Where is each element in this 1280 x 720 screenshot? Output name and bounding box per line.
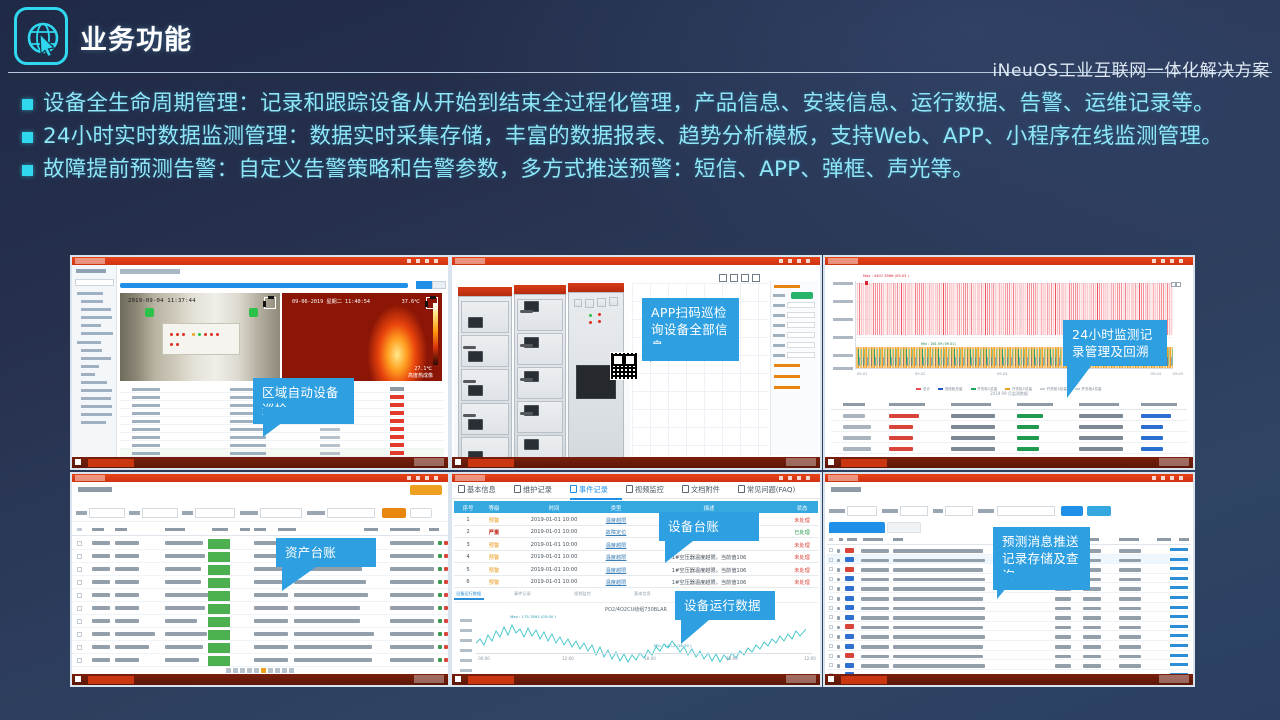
priority-badge [845, 576, 854, 581]
tree-node[interactable] [81, 365, 99, 368]
table-row[interactable]: 6预警2019-01-01 10:00温度越限1#空压器温度越限，当前值106未… [454, 576, 818, 589]
product-tagline: iNeuOS工业互联网一体化解决方案 [992, 56, 1270, 81]
callout-tail [681, 620, 709, 644]
y-tick [833, 336, 853, 339]
window-controls[interactable] [1147, 476, 1189, 480]
tab-active-underline [570, 498, 622, 500]
x-tick: 12:00 [562, 656, 574, 661]
window-body [72, 482, 448, 674]
subtab-event-log[interactable]: 事件记录 [514, 591, 531, 597]
window-controls[interactable] [774, 476, 816, 480]
y-tick [460, 669, 472, 672]
table-row[interactable] [72, 576, 448, 589]
list-item: 故障提前预测告警：自定义告警策略和告警参数，多方式推送预警：短信、APP、弹框、… [22, 154, 1272, 185]
table-row[interactable] [72, 628, 448, 641]
taskbar [72, 457, 448, 468]
tree-node[interactable] [81, 300, 103, 303]
table-row[interactable] [831, 421, 1187, 432]
filter-label [933, 509, 943, 513]
series-max-marker [865, 281, 868, 285]
maximize-icon[interactable] [1170, 259, 1174, 263]
page-7[interactable] [268, 668, 273, 673]
window-title [455, 475, 485, 481]
settings-icon[interactable] [1152, 476, 1156, 480]
control-panel-front [162, 323, 240, 355]
thermal-color-scale [433, 303, 438, 365]
search-button[interactable] [1061, 506, 1083, 516]
page-next[interactable] [289, 668, 294, 673]
doc-icon [738, 485, 745, 493]
tree-node[interactable] [81, 389, 112, 392]
close-icon[interactable] [1179, 476, 1183, 480]
tab-video-monitor[interactable]: 视频监控 [626, 485, 664, 495]
tab-basic-info[interactable]: 基本信息 [458, 485, 496, 495]
logo-box [14, 7, 68, 65]
page-title [78, 487, 112, 492]
callout-region-auto-inspection: 区域自动设备巡检 [253, 378, 354, 424]
window-body: 2019-09-04 11:37:44 09-06-2019 星期二 11:40… [72, 265, 448, 457]
callout-text: 设备运行数据 [684, 598, 761, 613]
y-tick [833, 354, 853, 357]
row-checkbox[interactable] [77, 606, 82, 611]
status-badge [208, 643, 230, 654]
taskbar-clock [786, 458, 816, 466]
minimize-icon[interactable] [1161, 476, 1165, 480]
table-row[interactable] [72, 589, 448, 602]
stop-inspection-button[interactable] [432, 281, 446, 289]
x-axis [855, 368, 1173, 369]
save-button[interactable] [791, 292, 813, 299]
org-filter-select[interactable] [260, 508, 302, 518]
close-icon[interactable] [806, 476, 810, 480]
priority-badge [845, 615, 854, 620]
row-checkbox[interactable] [77, 567, 82, 572]
doc-icon [570, 485, 577, 493]
table-toggle-icon[interactable] [1176, 282, 1181, 287]
settings-icon[interactable] [407, 259, 411, 263]
screenshot-panel-inspection[interactable]: 2019-09-04 11:37:44 09-06-2019 星期二 11:40… [70, 255, 450, 470]
sidebar-title [76, 269, 106, 273]
x-axis [476, 653, 812, 654]
close-icon[interactable] [806, 259, 810, 263]
priority-badge [845, 634, 854, 639]
row-checkbox[interactable] [77, 619, 82, 624]
minimize-icon[interactable] [416, 476, 420, 480]
table-row[interactable] [72, 615, 448, 628]
callout-predict-push-log: 预测消息推送记录存储及查询 [993, 527, 1090, 590]
callout-24h-record: 24小时监测记录管理及回溯 [1063, 320, 1167, 366]
priority-badge [845, 653, 854, 658]
close-icon[interactable] [1179, 259, 1183, 263]
tab-unprocessed[interactable] [829, 522, 885, 533]
settings-icon[interactable] [407, 476, 411, 480]
add-node-icon[interactable] [719, 274, 727, 282]
callout-tail [650, 344, 682, 362]
list-item: 24小时实时数据监测管理：数据实时采集存储，丰富的数据报表、趋势分析模板，支持W… [22, 121, 1272, 152]
window-body: 基本信息 维护记录 事件记录 视频监控 文档附件 常见问题(FAQ) 序号 等级… [452, 482, 820, 674]
priority-badge [845, 586, 854, 591]
taskbar [452, 674, 820, 685]
table-row[interactable]: 3预警2019-01-01 10:00温度越限未处理 [454, 538, 818, 551]
row-checkbox[interactable] [77, 645, 82, 650]
x-tick: 18:00 [726, 656, 738, 661]
callout-asset-ledger: 资产台账 [276, 538, 376, 567]
filter-label [978, 509, 994, 513]
start-icon[interactable] [455, 676, 461, 682]
tab-maintenance-log[interactable]: 维护记录 [514, 485, 552, 495]
tab-faq[interactable]: 常见问题(FAQ) [738, 485, 795, 495]
start-icon[interactable] [455, 459, 461, 465]
row-checkbox[interactable] [77, 580, 82, 585]
property-select[interactable] [787, 352, 815, 358]
table-row[interactable]: 4预警2019-01-01 10:00温度越限1#空压器温度越限，当前值106未… [454, 551, 818, 564]
property-label [773, 354, 785, 357]
screenshot-gallery: 2019-09-04 11:37:44 09-06-2019 星期二 11:40… [0, 252, 1280, 697]
maximize-icon[interactable] [425, 476, 429, 480]
table-row[interactable] [827, 651, 1191, 661]
callout-app-qr-scan: APP扫码巡检询设备全部信息 [642, 298, 739, 361]
bullet-text: 故障提前预测告警：自定义告警策略和告警参数，多方式推送预警：短信、APP、弹框、… [43, 154, 974, 185]
start-icon[interactable] [75, 676, 81, 682]
y-tick [460, 629, 472, 632]
property-select[interactable] [787, 342, 815, 348]
filter-label [129, 511, 140, 515]
maximize-icon[interactable] [797, 476, 801, 480]
window-titlebar [452, 257, 820, 265]
y-tick [460, 649, 472, 652]
tree-node[interactable] [81, 316, 112, 319]
chart-toolbox[interactable] [1171, 272, 1185, 278]
chart-legend[interactable]: 总计进线柜总量开关柜1总量开关柜2总量开关柜3总量开关柜4总量 [829, 375, 1189, 383]
callout-text: 资产台账 [285, 545, 336, 560]
minimize-icon[interactable] [416, 259, 420, 263]
minimize-icon[interactable] [1161, 259, 1165, 263]
tree-node[interactable] [81, 308, 111, 311]
table-caption: 2019 09 月监测数据 [825, 391, 1193, 397]
taskbar-clock [414, 458, 444, 466]
status-badge [208, 552, 230, 563]
window-controls[interactable] [1147, 259, 1189, 263]
monthly-energy-table[interactable] [831, 399, 1187, 455]
device-tree-sidebar[interactable] [72, 265, 117, 457]
thermal-label: 高度热成像 [408, 372, 433, 379]
priority-badge [845, 624, 854, 629]
tree-node[interactable] [81, 349, 102, 352]
tree-node[interactable] [81, 421, 106, 424]
name-filter-input[interactable] [142, 508, 178, 518]
taskbar-app-tile[interactable] [88, 459, 134, 467]
tab-event-log[interactable]: 事件记录 [570, 485, 608, 495]
start-icon[interactable] [828, 459, 834, 465]
type-filter-select[interactable] [945, 506, 973, 516]
table-row[interactable]: 1预警2019-01-01 10:00温度越限未处理 [454, 513, 818, 526]
page-1[interactable] [233, 668, 238, 673]
bullet-square-icon [22, 99, 33, 110]
table-row[interactable] [831, 432, 1187, 443]
y-tick [833, 367, 853, 370]
settings-icon[interactable] [779, 259, 783, 263]
window-titlebar [825, 257, 1193, 265]
status-badge [208, 578, 230, 589]
window-titlebar [72, 474, 448, 482]
y-tick [833, 300, 853, 303]
table-row[interactable] [120, 441, 444, 449]
chart-annotation-min: Min : 261.59 (09-01) [921, 342, 956, 346]
status-badge [208, 630, 230, 641]
property-group-title[interactable] [774, 386, 800, 389]
subtab-basic[interactable]: 基本信息 [634, 591, 651, 597]
table-row[interactable] [831, 410, 1187, 421]
property-sidebar[interactable] [770, 281, 818, 455]
table-row[interactable] [72, 602, 448, 615]
property-input[interactable] [787, 322, 815, 328]
bullet-square-icon [22, 132, 33, 143]
class-filter-select[interactable] [195, 508, 235, 518]
window-body [452, 265, 820, 457]
doc-icon [682, 485, 689, 493]
add-line-icon[interactable] [730, 274, 738, 282]
minimize-icon[interactable] [788, 259, 792, 263]
start-inspection-button[interactable] [416, 281, 432, 289]
taskbar-app-tile[interactable] [841, 459, 887, 467]
status-badge [208, 565, 230, 576]
table-row[interactable] [120, 449, 444, 457]
org-filter-select[interactable] [847, 506, 877, 516]
screenshot-panel-device-ledger[interactable]: 基本信息 维护记录 事件记录 视频监控 文档附件 常见问题(FAQ) 序号 等级… [450, 472, 822, 687]
save-icon[interactable] [741, 274, 749, 282]
taskbar [452, 457, 820, 468]
page-current[interactable] [261, 668, 266, 673]
property-label [773, 344, 785, 347]
filter-label [182, 511, 193, 515]
x-tick: 12:00 [804, 656, 816, 661]
fullscreen-icon[interactable] [426, 297, 438, 309]
maximize-icon[interactable] [1170, 476, 1174, 480]
taskbar-app-tile[interactable] [468, 676, 514, 684]
property-input[interactable] [787, 312, 815, 318]
settings-icon[interactable] [1152, 259, 1156, 263]
list-item: 设备全生命周期管理：记录和跟踪设备从开始到结束全过程化管理，产品信息、安装信息、… [22, 88, 1272, 119]
camera-feed-visible[interactable]: 2019-09-04 11:37:44 [120, 293, 280, 381]
minimize-icon[interactable] [788, 476, 792, 480]
taskbar [825, 457, 1193, 468]
window-title [75, 475, 105, 481]
callout-tail [263, 407, 303, 437]
bullet-text: 24小时实时数据监测管理：数据实时采集存储，丰富的数据报表、趋势分析模板，支持W… [43, 121, 1223, 152]
maximize-icon[interactable] [425, 259, 429, 263]
tree-node[interactable] [81, 397, 111, 400]
taskbar-app-tile[interactable] [88, 676, 134, 684]
table-header: 序号 等级 时间 类型 描述 状态 [454, 501, 818, 513]
row-checkbox[interactable] [77, 632, 82, 637]
subtab-active-underline [454, 598, 484, 600]
start-icon[interactable] [75, 459, 81, 465]
window-titlebar [452, 474, 820, 482]
x-tick: 18:00 [644, 656, 656, 661]
start-icon[interactable] [828, 676, 834, 682]
page-8[interactable] [275, 668, 280, 673]
tree-node[interactable] [81, 373, 95, 376]
tree-node[interactable] [81, 324, 101, 327]
device-tab-bar[interactable]: 基本信息 维护记录 事件记录 视频监控 文档附件 常见问题(FAQ) [452, 482, 820, 499]
callout-text: 24小时监测记录管理及回溯 [1072, 327, 1153, 359]
window-title [75, 258, 105, 264]
tab-processed[interactable] [887, 522, 921, 533]
priority-badge [845, 663, 854, 668]
filter-label [829, 509, 845, 513]
table-row[interactable] [827, 612, 1191, 622]
date-filter-input[interactable] [327, 508, 375, 518]
x-tick: 00:00 [478, 656, 490, 661]
canvas-toolbar[interactable] [716, 267, 768, 281]
filter-bar[interactable] [72, 506, 448, 522]
tree-node[interactable] [81, 405, 112, 408]
status-badge [208, 604, 230, 615]
taskbar-clock [414, 675, 444, 683]
priority-badge [845, 567, 854, 572]
filter-bar[interactable] [825, 504, 1193, 520]
tree-node[interactable] [77, 341, 101, 344]
window-controls[interactable] [402, 259, 444, 263]
priority-badge [845, 596, 854, 601]
table-row[interactable] [827, 622, 1191, 632]
indicator-green-left [145, 308, 154, 317]
fullscreen-icon[interactable] [264, 297, 276, 309]
window-controls[interactable] [774, 259, 816, 263]
taskbar-app-tile[interactable] [468, 459, 514, 467]
table-row[interactable] [72, 641, 448, 654]
table-row[interactable] [827, 641, 1191, 651]
table-header [831, 399, 1187, 410]
property-group-title[interactable] [774, 375, 800, 378]
y-tick [460, 659, 472, 662]
switchgear-lineup-photo [454, 279, 630, 470]
tree-node[interactable] [81, 381, 107, 384]
callout-tail [997, 573, 1019, 599]
filter-label [76, 511, 87, 515]
date-range-input[interactable] [997, 506, 1055, 516]
window-controls[interactable] [402, 476, 444, 480]
filter-label [882, 509, 898, 513]
tree-search-input[interactable] [75, 279, 114, 286]
camera-feed-thermal[interactable]: 09-06-2019 星期二 11:40:54 37.6℃ 27.1℃ 高度热成… [282, 293, 442, 381]
y-axis [855, 281, 856, 369]
row-checkbox[interactable] [77, 593, 82, 598]
export-icon[interactable] [752, 274, 760, 282]
tree-node[interactable] [77, 292, 103, 295]
page-ellipsis [240, 668, 245, 673]
inspection-progress-bar [120, 283, 408, 288]
table-row[interactable]: 5预警2019-01-01 10:00温度越限1#空压器温度越限，当前值106未… [454, 563, 818, 576]
search-button[interactable] [382, 508, 406, 518]
subtab-run-data[interactable]: 设备运行数据 [456, 591, 481, 597]
tree-node[interactable] [81, 413, 112, 416]
table-row[interactable] [827, 660, 1191, 670]
property-group-title [774, 285, 800, 288]
thermal-temp-max: 37.6℃ [402, 299, 420, 305]
page-title [831, 487, 861, 492]
close-icon[interactable] [434, 259, 438, 263]
thermal-timestamp: 09-06-2019 星期二 11:40:54 [292, 298, 370, 305]
table-row[interactable] [827, 603, 1191, 613]
table-row[interactable]: 2严重2019-01-01 10:00故障定位已处理 [454, 526, 818, 539]
table-row[interactable] [831, 443, 1187, 454]
camera-timestamp: 2019-09-04 11:37:44 [128, 298, 196, 304]
page-4[interactable] [247, 668, 252, 673]
priority-badge [845, 605, 854, 610]
indicator-green-right [249, 308, 258, 317]
settings-icon[interactable] [779, 476, 783, 480]
status-badge [208, 539, 230, 550]
table-row[interactable] [827, 631, 1191, 641]
reset-button[interactable] [410, 508, 432, 518]
doc-icon [514, 485, 521, 493]
window-title [828, 475, 858, 481]
bullet-square-icon [22, 165, 33, 176]
page-prev[interactable] [226, 668, 231, 673]
taskbar-clock [1159, 458, 1189, 466]
taskbar-app-tile[interactable] [841, 676, 887, 684]
priority-badge [845, 557, 854, 562]
close-icon[interactable] [434, 476, 438, 480]
table-row[interactable] [72, 563, 448, 576]
taskbar-clock [1159, 675, 1189, 683]
device-filter-select[interactable] [900, 506, 928, 516]
callout-device-run-data: 设备运行数据 [675, 591, 775, 620]
diagram-canvas[interactable] [452, 265, 820, 457]
trend-line [476, 617, 806, 669]
reset-button[interactable] [1087, 506, 1111, 516]
callout-text: 设备台账 [668, 519, 719, 534]
tree-node[interactable] [81, 332, 113, 335]
bullet-text: 设备全生命周期管理：记录和跟踪设备从开始到结束全过程化管理，产品信息、安装信息、… [43, 88, 1215, 119]
priority-badge [845, 644, 854, 649]
pagination[interactable] [72, 661, 448, 672]
status-badge [208, 591, 230, 602]
callout-tail [665, 541, 693, 563]
row-checkbox[interactable] [77, 554, 82, 559]
window-title [455, 258, 485, 264]
property-label [773, 294, 785, 297]
table-row[interactable] [72, 550, 448, 563]
window-titlebar [825, 474, 1193, 482]
property-input[interactable] [787, 332, 815, 338]
page-5[interactable] [254, 668, 259, 673]
tree-node[interactable] [81, 357, 111, 360]
property-group-title[interactable] [774, 364, 800, 367]
status-badge [208, 617, 230, 628]
priority-badge [845, 548, 854, 553]
page-header: 业务功能 iNeuOS工业互联网一体化解决方案 [0, 0, 1280, 84]
doc-icon [626, 485, 633, 493]
subtab-video[interactable]: 视频监控 [574, 591, 591, 597]
add-asset-button[interactable] [410, 485, 442, 495]
table-row[interactable] [72, 537, 448, 550]
window-titlebar [72, 257, 448, 265]
screenshot-panel-asset-ledger[interactable] [70, 472, 450, 687]
taskbar [72, 674, 448, 685]
qr-code-icon[interactable] [610, 352, 638, 380]
code-filter-input[interactable] [89, 508, 125, 518]
tab-attachments[interactable]: 文档附件 [682, 485, 720, 495]
page-9[interactable] [282, 668, 287, 673]
taskbar [825, 674, 1193, 685]
property-input[interactable] [787, 302, 815, 308]
y-tick [833, 282, 853, 285]
screenshot-panel-qr-scan[interactable] [450, 255, 822, 470]
maximize-icon[interactable] [797, 259, 801, 263]
row-checkbox[interactable] [77, 541, 82, 546]
